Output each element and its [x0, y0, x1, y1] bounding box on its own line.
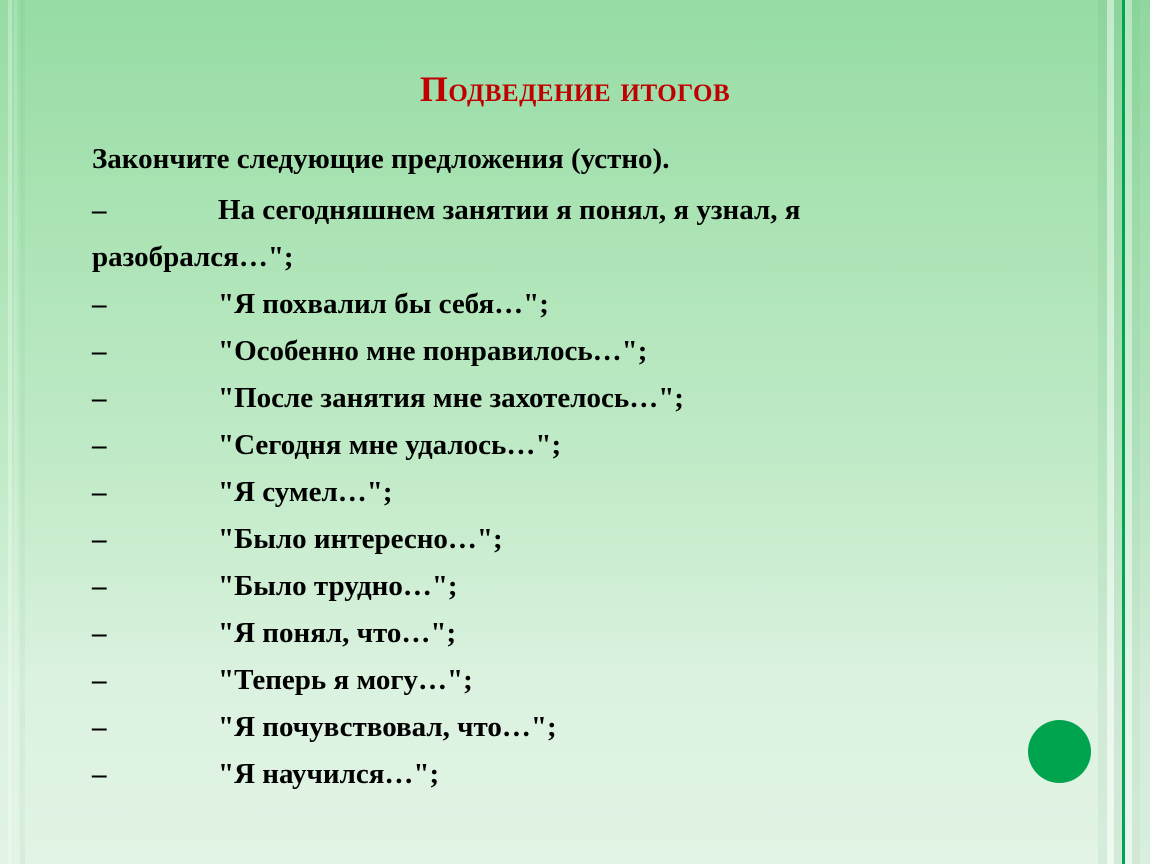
list-item-text: "Теперь я могу…"; [218, 664, 473, 696]
right-stripe-6 [1140, 0, 1150, 864]
list-item: –"Я похвалил бы себя…"; [92, 281, 1072, 328]
right-stripe-2 [1107, 0, 1114, 864]
list-item-text: "Было интересно…"; [218, 523, 503, 555]
list-item-text: "Особенно мне понравилось…"; [218, 335, 647, 367]
list-dash: – [92, 704, 218, 751]
list-item-text: "Я понял, что…"; [218, 617, 456, 649]
list-item: –"После занятия мне захотелось…"; [92, 375, 1072, 422]
list-dash: – [92, 751, 218, 798]
list-item: –"Теперь я могу…"; [92, 657, 1072, 704]
right-accent-line [1122, 0, 1125, 864]
list-dash: – [92, 657, 218, 704]
right-stripe-1 [1098, 0, 1107, 864]
list-dash: – [92, 422, 218, 469]
list-item-text: "Я похвалил бы себя…"; [218, 288, 549, 320]
list-dash: – [92, 469, 218, 516]
slide-title: Подведение итогов [0, 70, 1150, 110]
left-stripe-2 [14, 0, 17, 864]
list-dash: – [92, 610, 218, 657]
slide-body: Закончите следующие предложения (устно).… [92, 136, 1072, 798]
list-dash: – [92, 187, 218, 234]
left-stripe-3 [20, 0, 25, 864]
list-dash: – [92, 328, 218, 375]
list-item: –"Я почувствовал, что…"; [92, 704, 1072, 751]
list-dash: – [92, 563, 218, 610]
list-item: –На сегодняшнем занятии я понял, я узнал… [92, 187, 972, 281]
list-item: –"Я научился…"; [92, 751, 1072, 798]
list-item: –"Было интересно…"; [92, 516, 1072, 563]
slide-canvas: Подведение итогов Закончите следующие пр… [0, 0, 1150, 864]
list-dash: – [92, 375, 218, 422]
list-item-text: "Было трудно…"; [218, 570, 458, 602]
list-item: –"Я сумел…"; [92, 469, 1072, 516]
list-item: –"Сегодня мне удалось…"; [92, 422, 1072, 469]
list-dash: – [92, 516, 218, 563]
left-stripe-1 [8, 0, 12, 864]
list-item: –"Особенно мне понравилось…"; [92, 328, 1072, 375]
right-stripe-5 [1132, 0, 1140, 864]
list-item-text: "Я научился…"; [218, 758, 439, 790]
body-intro: Закончите следующие предложения (устно). [92, 136, 1072, 183]
decorative-circle [1028, 720, 1091, 783]
list-item-text: "После занятия мне захотелось…"; [218, 382, 684, 414]
list-item: –"Было трудно…"; [92, 563, 1072, 610]
right-stripe-4 [1125, 0, 1132, 864]
list-dash: – [92, 281, 218, 328]
list-item: –"Я понял, что…"; [92, 610, 1072, 657]
right-stripe-3 [1114, 0, 1122, 864]
list-item-text: "Я почувствовал, что…"; [218, 711, 557, 743]
list-item-text: "Я сумел…"; [218, 476, 393, 508]
list-item-text: "Сегодня мне удалось…"; [218, 429, 561, 461]
